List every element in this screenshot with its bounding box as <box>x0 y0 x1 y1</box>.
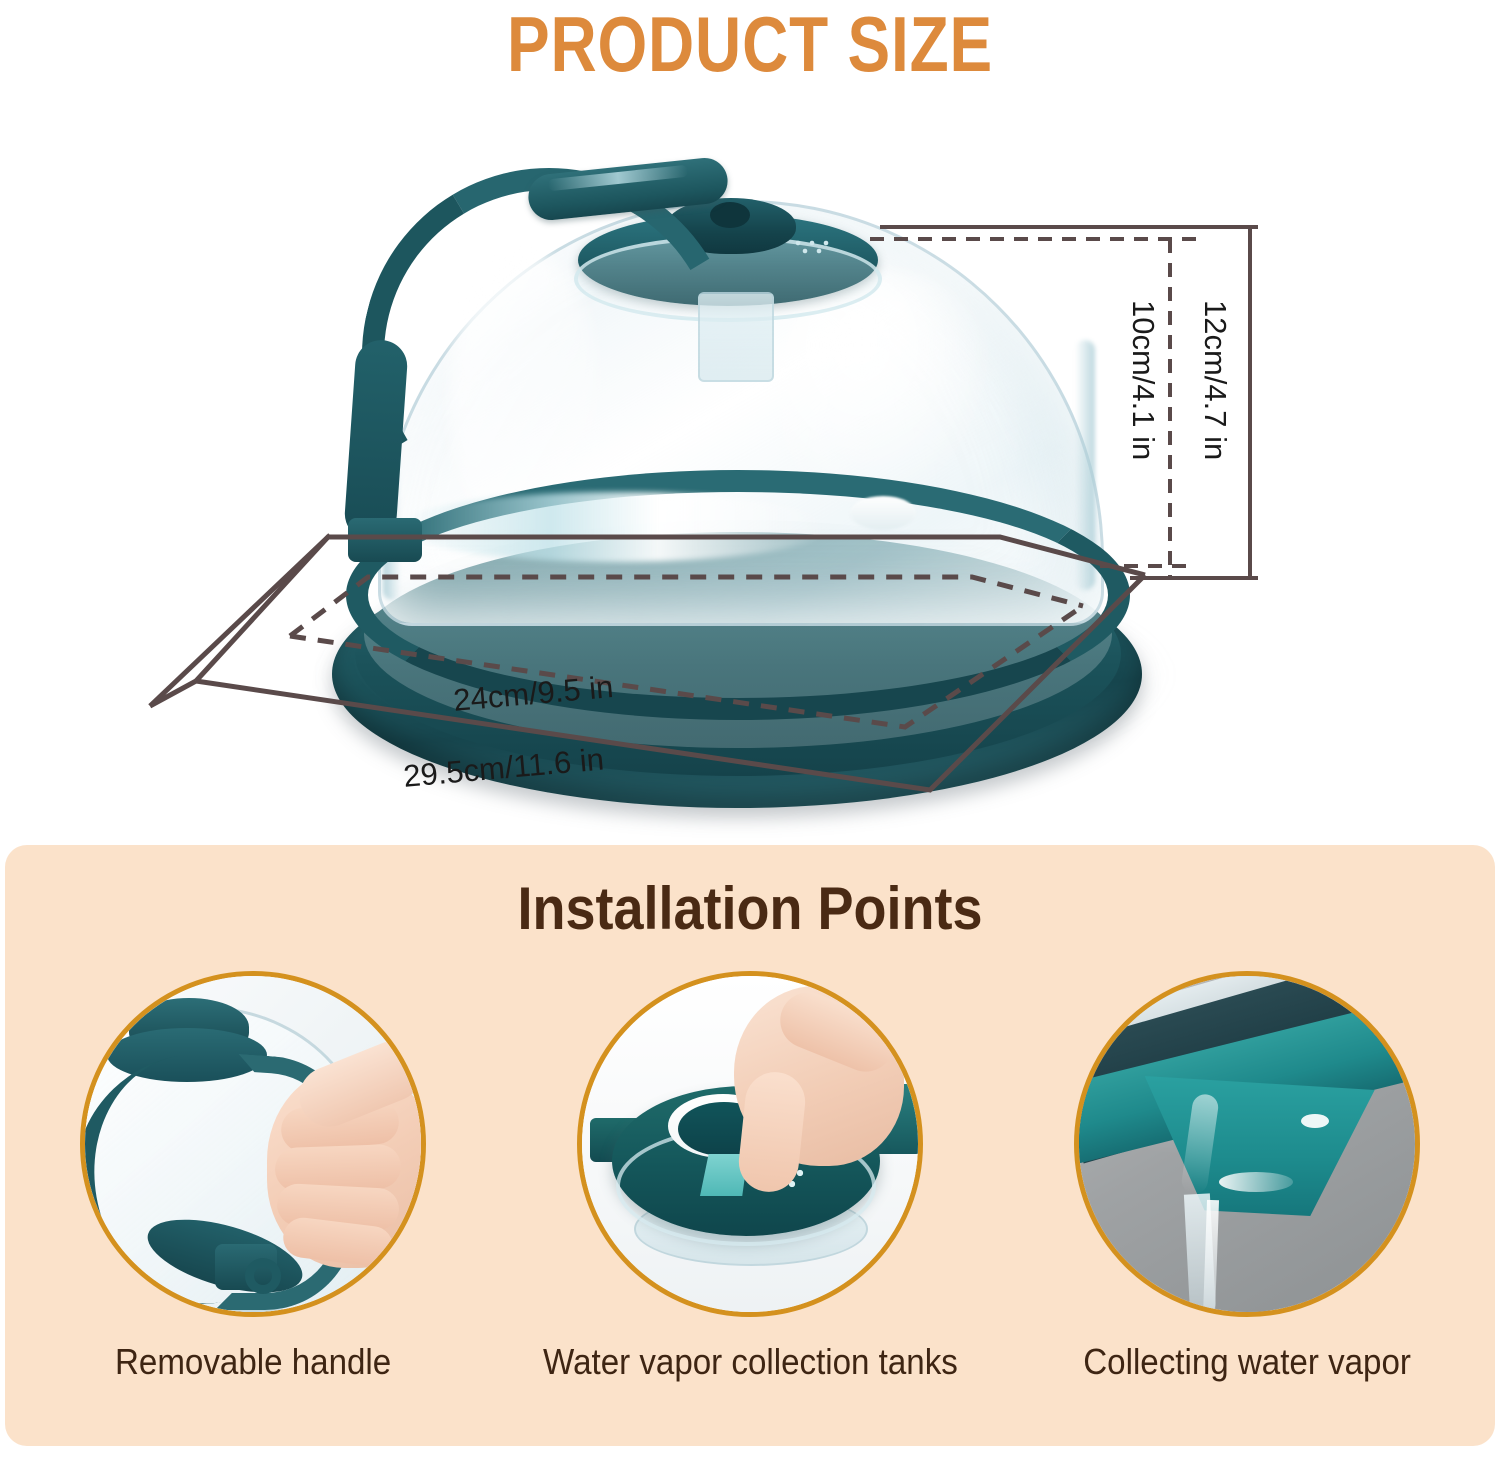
card-caption: Water vapor collection tanks <box>543 1341 958 1383</box>
dimension-label-height-outer: 12cm/4.7 in <box>1198 300 1232 460</box>
product-size-section: PRODUCT SIZE <box>0 0 1500 845</box>
top-vent-knob-notch <box>710 202 750 228</box>
product-handle-clip <box>348 518 422 562</box>
collecting-water-vapor-photo <box>1074 971 1420 1317</box>
installation-card-water-vapor-tanks: Water vapor collection tanks <box>502 971 999 1411</box>
card-caption: Removable handle <box>115 1341 391 1383</box>
installation-card-collecting-water-vapor: Collecting water vapor <box>998 971 1495 1411</box>
removable-handle-photo <box>80 971 426 1317</box>
water-bead-icon <box>1301 1114 1329 1128</box>
rim-latch-nub <box>850 496 916 530</box>
page-title: PRODUCT SIZE <box>135 2 1365 86</box>
vent-holes-icon <box>792 238 858 258</box>
installation-cards: Removable handle Water vapor collectio <box>5 971 1495 1411</box>
product-photo <box>150 140 1190 700</box>
installation-points-section: Installation Points R <box>5 845 1495 1446</box>
water-vapor-collection-tanks-photo <box>577 971 923 1317</box>
section-title: Installation Points <box>80 875 1421 943</box>
water-highlight-icon <box>1219 1172 1293 1192</box>
card-caption: Collecting water vapor <box>1083 1341 1411 1383</box>
installation-card-removable-handle: Removable handle <box>5 971 502 1411</box>
